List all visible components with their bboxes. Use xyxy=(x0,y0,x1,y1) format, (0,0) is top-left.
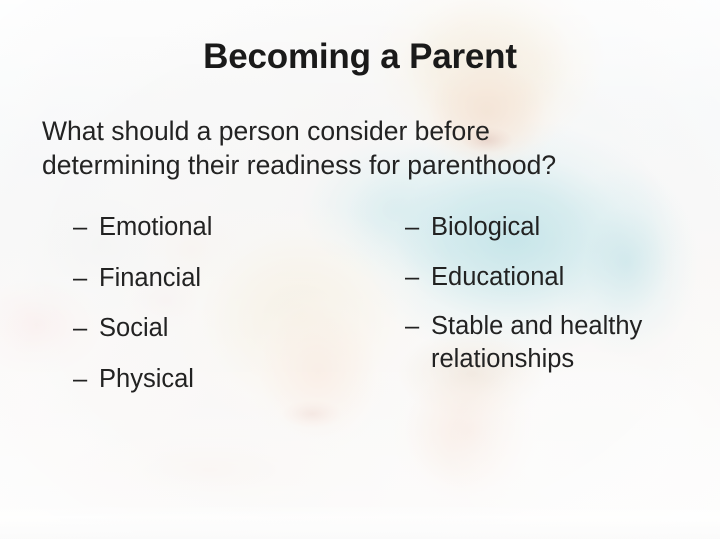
subtitle-line-2: determining their readiness for parentho… xyxy=(42,148,662,182)
bullet-columns: – Emotional – Financial – Social – Physi… xyxy=(0,211,720,411)
bullet-label: Emotional xyxy=(99,211,383,244)
bullet-column-left: – Emotional – Financial – Social – Physi… xyxy=(73,211,383,414)
bullet-item-stable-relationships: – Stable and healthy relationships xyxy=(405,310,705,375)
dash-bullet-icon: – xyxy=(73,211,87,244)
dash-bullet-icon: – xyxy=(73,312,87,345)
bullet-label: Educational xyxy=(431,261,705,294)
slide-subtitle: What should a person consider before det… xyxy=(42,114,662,183)
dash-bullet-icon: – xyxy=(73,262,87,295)
subtitle-line-1: What should a person consider before xyxy=(42,114,662,148)
bullet-item-educational: – Educational xyxy=(405,261,705,294)
bullet-item-emotional: – Emotional xyxy=(73,211,383,244)
bullet-column-right: – Biological – Educational – Stable and … xyxy=(405,211,705,393)
presentation-slide: Becoming a Parent What should a person c… xyxy=(0,0,720,539)
dash-bullet-icon: – xyxy=(405,261,419,294)
bullet-label-wrap: relationships xyxy=(431,343,705,376)
bullet-item-financial: – Financial xyxy=(73,262,383,295)
bullet-label: Financial xyxy=(99,262,383,295)
bullet-label: Biological xyxy=(431,211,705,244)
dash-bullet-icon: – xyxy=(73,363,87,396)
bullet-label: Stable and healthy xyxy=(431,310,705,343)
bullet-label: Social xyxy=(99,312,383,345)
dash-bullet-icon: – xyxy=(405,310,419,343)
bullet-item-physical: – Physical xyxy=(73,363,383,396)
bullet-item-social: – Social xyxy=(73,312,383,345)
slide-title: Becoming a Parent xyxy=(0,39,720,76)
slide-content: Becoming a Parent What should a person c… xyxy=(0,0,720,539)
bullet-item-biological: – Biological xyxy=(405,211,705,244)
bullet-label: Physical xyxy=(99,363,383,396)
dash-bullet-icon: – xyxy=(405,211,419,244)
